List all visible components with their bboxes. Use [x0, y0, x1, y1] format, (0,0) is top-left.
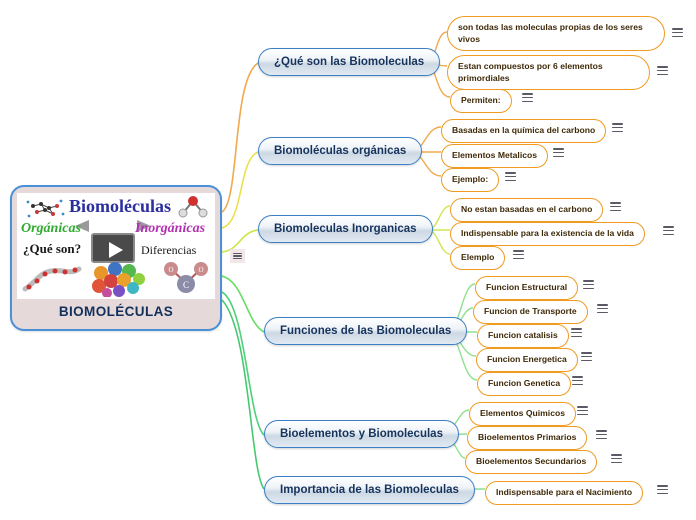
branch-label: Biomoléculas orgánicas	[274, 145, 406, 157]
leaf-label: Bioelementos Secundarios	[476, 456, 586, 468]
leaf-node[interactable]: Funcion Estructural	[475, 276, 578, 300]
leaf-menu-icon[interactable]	[612, 123, 623, 132]
leaf-label: Funcion de Transporte	[484, 306, 577, 318]
branch-label: Biomoleculas Inorganicas	[274, 223, 417, 235]
branch-node-inorganicas[interactable]: Biomoleculas Inorganicas	[258, 215, 433, 243]
leaf-node[interactable]: Funcion Energetica	[476, 348, 578, 372]
branch-node-funciones[interactable]: Funciones de las Biomoleculas	[264, 317, 467, 345]
branch-node-bioelementos[interactable]: Bioelementos y Biomoleculas	[264, 420, 459, 448]
leaf-menu-icon[interactable]	[577, 406, 588, 415]
thumb-heading: Biomoléculas	[69, 196, 171, 217]
leaf-menu-icon[interactable]	[571, 328, 582, 337]
leaf-label: son todas las moleculas propias de los s…	[458, 22, 654, 45]
thumb-right-label: Inorgánicas	[135, 221, 205, 237]
leaf-menu-icon[interactable]	[505, 172, 516, 181]
leaf-label: Estan compuestos por 6 elementos primord…	[458, 61, 639, 84]
branch-label: Bioelementos y Biomoleculas	[280, 428, 443, 440]
leaf-menu-icon[interactable]	[596, 430, 607, 439]
leaf-label: Indispensable para el Nacimiento	[496, 487, 632, 499]
leaf-node[interactable]: Permiten:	[450, 89, 512, 113]
thumb-left-label: Orgánicas	[21, 221, 81, 237]
leaf-menu-icon[interactable]	[572, 376, 583, 385]
leaf-menu-icon[interactable]	[583, 280, 594, 289]
leaf-menu-icon[interactable]	[522, 93, 533, 102]
leaf-node[interactable]: Elemplo	[450, 246, 505, 270]
branch-label: ¿Qué son las Biomoleculas	[274, 56, 424, 68]
leaf-menu-icon[interactable]	[672, 28, 683, 37]
leaf-label: Ejemplo:	[452, 174, 488, 186]
leaf-label: Funcion catalisis	[488, 330, 558, 342]
leaf-label: Basadas en la química del carbono	[452, 125, 595, 137]
protein-structure-icon	[21, 263, 83, 295]
central-node-title: BIOMOLÉCULAS	[59, 304, 173, 319]
leaf-node[interactable]: Funcion Genetica	[477, 372, 571, 396]
central-node[interactable]: Biomoléculas Orgánicas Inorgánicas ¿Qué …	[10, 185, 222, 331]
leaf-menu-icon[interactable]	[610, 202, 621, 211]
leaf-label: Elementos Quimicos	[480, 408, 565, 420]
leaf-label: Funcion Estructural	[486, 282, 567, 294]
thumb-differences-label: Diferencias	[141, 243, 196, 258]
svg-text:C: C	[183, 280, 189, 290]
mindmap-canvas: Biomoléculas Orgánicas Inorgánicas ¿Qué …	[0, 0, 696, 520]
leaf-menu-icon[interactable]	[597, 304, 608, 313]
leaf-label: No estan basadas en el carbono	[461, 204, 592, 216]
leaf-node[interactable]: Funcion de Transporte	[473, 300, 588, 324]
molecule-network-icon	[23, 198, 67, 222]
leaf-label: Indispensable para la existencia de la v…	[461, 228, 634, 240]
central-menu-icon[interactable]	[230, 249, 245, 263]
leaf-node[interactable]: Funcion catalisis	[477, 324, 569, 348]
leaf-node[interactable]: Indispensable para la existencia de la v…	[450, 222, 645, 246]
leaf-node[interactable]: son todas las moleculas propias de los s…	[447, 16, 665, 51]
elements-cluster-icon	[91, 261, 147, 297]
leaf-label: Elemplo	[461, 252, 494, 264]
leaf-menu-icon[interactable]	[581, 352, 592, 361]
leaf-menu-icon[interactable]	[663, 226, 674, 235]
leaf-menu-icon[interactable]	[657, 485, 668, 494]
leaf-node[interactable]: Bioelementos Primarios	[467, 426, 587, 450]
thumb-question-label: ¿Qué son?	[23, 241, 81, 257]
branch-node-organicas[interactable]: Biomoléculas orgánicas	[258, 137, 422, 165]
svg-text:O: O	[168, 266, 173, 274]
leaf-label: Permiten:	[461, 95, 501, 107]
leaf-menu-icon[interactable]	[513, 250, 524, 259]
leaf-label: Funcion Energetica	[487, 354, 567, 366]
play-icon[interactable]	[91, 233, 135, 263]
branch-node-que-son[interactable]: ¿Qué son las Biomoleculas	[258, 48, 440, 76]
water-molecule-icon	[175, 195, 211, 219]
leaf-label: Elementos Metalicos	[452, 150, 537, 162]
leaf-menu-icon[interactable]	[553, 148, 564, 157]
branch-label: Importancia de las Biomoleculas	[280, 484, 459, 496]
leaf-node[interactable]: No estan basadas en el carbono	[450, 198, 603, 222]
leaf-node[interactable]: Elementos Metalicos	[441, 144, 548, 168]
leaf-menu-icon[interactable]	[611, 454, 622, 463]
leaf-node[interactable]: Ejemplo:	[441, 168, 499, 192]
leaf-node[interactable]: Estan compuestos por 6 elementos primord…	[447, 55, 650, 90]
leaf-node[interactable]: Bioelementos Secundarios	[465, 450, 597, 474]
leaf-label: Bioelementos Primarios	[478, 432, 576, 444]
svg-text:O: O	[198, 266, 203, 274]
leaf-node[interactable]: Basadas en la química del carbono	[441, 119, 606, 143]
co2-molecule-icon: O O C	[161, 261, 211, 295]
leaf-menu-icon[interactable]	[657, 66, 668, 75]
central-thumbnail[interactable]: Biomoléculas Orgánicas Inorgánicas ¿Qué …	[17, 193, 215, 299]
leaf-node[interactable]: Elementos Quimicos	[469, 402, 576, 426]
leaf-label: Funcion Genetica	[488, 378, 560, 390]
branch-node-importancia[interactable]: Importancia de las Biomoleculas	[264, 476, 475, 504]
leaf-node[interactable]: Indispensable para el Nacimiento	[485, 481, 643, 505]
branch-label: Funciones de las Biomoleculas	[280, 325, 451, 337]
